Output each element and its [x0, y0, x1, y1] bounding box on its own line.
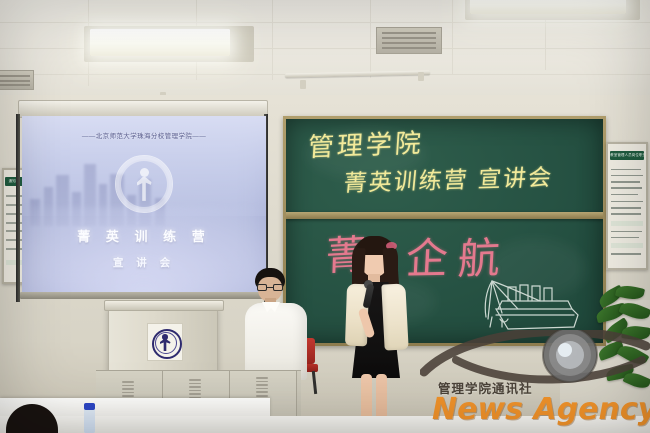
rail-bracket	[418, 72, 424, 81]
recessed-fluorescent-light	[90, 29, 230, 56]
notice-right-title: 教室管理人员岗位职责	[610, 151, 643, 160]
slide-fog-overlay	[22, 207, 266, 294]
water-bottle-cap	[84, 403, 95, 410]
screen-bottom-bar	[20, 292, 268, 299]
water-bottle	[84, 407, 95, 433]
notice-header: 教室管理人员岗位职责	[610, 151, 643, 160]
ceiling	[0, 0, 650, 108]
blackboard-surface: 管理学院 菁英训练营 宣讲会 菁 企 航	[286, 119, 603, 343]
eyeglasses	[257, 284, 283, 291]
potted-plant	[596, 286, 650, 406]
school-emblem-plaque	[147, 323, 183, 361]
slide-header-text: ——北京师范大学珠海分校管理学院——	[22, 130, 266, 140]
blackboard-chalk-tray-divider	[286, 212, 603, 219]
front-table-edge	[0, 416, 650, 433]
projection-screen: ——北京师范大学珠海分校管理学院—— 菁 英 训 练 营 宣 讲 会	[8, 100, 276, 308]
photo-scene: 通知栏	[0, 0, 650, 433]
slide-subtitle: 宣 讲 会	[22, 255, 266, 270]
ceiling-air-vent	[376, 27, 442, 54]
screen-edge	[16, 114, 20, 302]
blackboard-heading-line-1: 管理学院	[307, 123, 425, 165]
rail-bracket	[300, 80, 306, 89]
female-speaker	[340, 234, 412, 433]
recessed-fluorescent-light	[470, 0, 626, 14]
podium-top-surface	[104, 300, 224, 311]
seated-man	[245, 268, 307, 380]
notice-board-right: 教室管理人员岗位职责	[606, 142, 648, 270]
blackboard: 管理学院 菁英训练营 宣讲会 菁 企 航	[283, 116, 606, 346]
blackboard-heading-line-2: 菁英训练营 宣讲会	[342, 158, 554, 198]
cruise-ship-chalk-drawing	[482, 257, 588, 335]
slide-title: 菁 英 训 练 营	[22, 226, 266, 245]
projected-slide: ——北京师范大学珠海分校管理学院—— 菁 英 训 练 营 宣 讲 会	[22, 116, 266, 294]
school-of-management-emblem	[115, 155, 173, 213]
ceiling-air-vent	[0, 70, 34, 90]
